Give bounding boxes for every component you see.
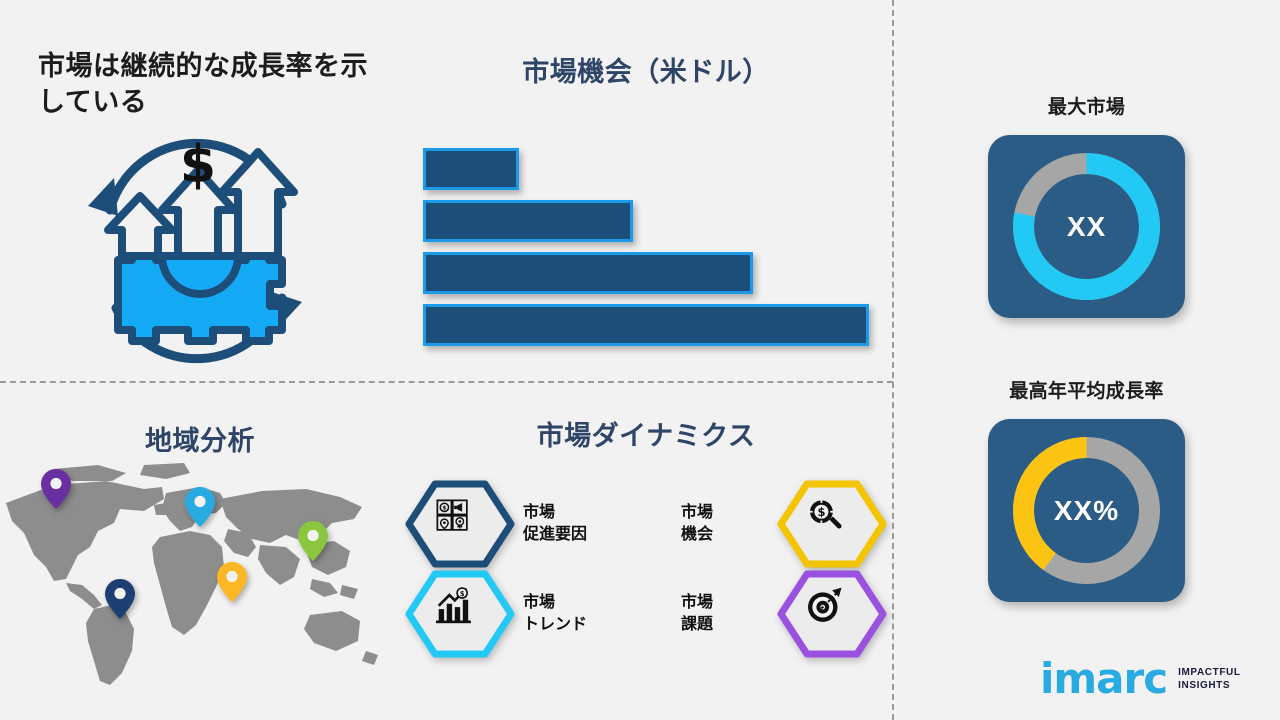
kpi-donut-card: XX%: [988, 419, 1185, 602]
logo-wordmark: imarc: [1040, 658, 1167, 700]
pin-south-america: [104, 577, 136, 621]
kpi-highest-cagr: 最高年平均成長率XX%: [893, 376, 1280, 602]
dynamics-item-label-line2: 機会: [681, 524, 777, 546]
kpi-value: XX%: [988, 419, 1185, 602]
bar: [423, 252, 753, 294]
kpi-column: 最大市場XX 最高年平均成長率XX%: [893, 0, 1280, 720]
imarc-logo: imarc IMPACTFUL INSIGHTS: [1040, 650, 1220, 708]
hexagon-badge: $: [777, 480, 887, 568]
dynamics-item-label-line1: 市場: [523, 592, 619, 614]
svg-text:$: $: [442, 505, 446, 512]
pin-north-america: [40, 467, 72, 511]
kpi-largest-market: 最大市場XX: [893, 92, 1280, 318]
dynamics-item[interactable]: $市場促進要因: [405, 479, 646, 569]
dynamics-item-label: 市場トレンド: [515, 592, 619, 635]
logo-tagline-line2: INSIGHTS: [1178, 679, 1240, 693]
svg-text:$: $: [817, 505, 825, 519]
pin-east-asia: [297, 519, 329, 563]
dynamics-item-label: 市場促進要因: [515, 502, 619, 545]
growth-panel: 市場は継続的な成長率を示している $: [0, 0, 400, 381]
dynamics-item-label-line1: 市場: [523, 502, 619, 524]
dynamics-item-label-line2: 課題: [681, 614, 777, 636]
dynamics-panel-title: 市場ダイナミクス: [400, 414, 892, 453]
logo-tagline-line1: IMPACTFUL: [1178, 666, 1240, 680]
dynamics-item-label-line1: 市場: [681, 502, 777, 524]
bar-row: [423, 148, 519, 190]
hexagon-badge: $: [405, 480, 515, 568]
hexagon-badge: [777, 570, 887, 658]
dynamics-item-label-line2: 促進要因: [523, 524, 619, 546]
kpi-label: 最大市場: [893, 92, 1280, 119]
bar: [423, 148, 519, 190]
dynamics-item[interactable]: $市場機会: [646, 479, 887, 569]
bar-row: [423, 200, 633, 242]
growth-cycle-gear-icon: $: [70, 138, 320, 370]
opportunity-bar-chart: [423, 148, 883, 348]
bar: [423, 200, 633, 242]
dollar-glyph: $: [180, 138, 216, 195]
regional-panel-title: 地域分析: [0, 419, 400, 458]
regional-panel: 地域分析: [0, 381, 400, 720]
pin-europe: [184, 485, 216, 529]
dynamics-item-label-line1: 市場: [681, 592, 777, 614]
bar: [423, 304, 869, 346]
bar-row: [423, 304, 869, 346]
world-map: [0, 459, 394, 689]
opportunity-panel-title: 市場機会（米ドル）: [400, 50, 892, 89]
dynamics-item-label: 市場機会: [673, 502, 777, 545]
kpi-label: 最高年平均成長率: [893, 376, 1280, 403]
slide-root: 市場は継続的な成長率を示している $ 市場機会（米ドル）: [0, 0, 1280, 720]
logo-tagline: IMPACTFUL INSIGHTS: [1178, 666, 1240, 693]
kpi-donut-card: XX: [988, 135, 1185, 318]
pin-middle-east-africa: [216, 560, 248, 604]
opportunity-panel: 市場機会（米ドル）: [400, 0, 892, 381]
bar-row: [423, 252, 753, 294]
dynamics-item-label-line2: トレンド: [523, 614, 619, 636]
growth-panel-title: 市場は継続的な成長率を示している: [38, 48, 383, 121]
dynamics-item[interactable]: 市場課題: [646, 569, 887, 659]
dynamics-panel: 市場ダイナミクス $市場促進要因$市場機会$市場トレンド市場課題: [400, 381, 892, 720]
dynamics-item[interactable]: $市場トレンド: [405, 569, 646, 659]
hexagon-badge: $: [405, 570, 515, 658]
svg-text:$: $: [460, 590, 465, 598]
dynamics-item-label: 市場課題: [673, 592, 777, 635]
kpi-value: XX: [988, 135, 1185, 318]
